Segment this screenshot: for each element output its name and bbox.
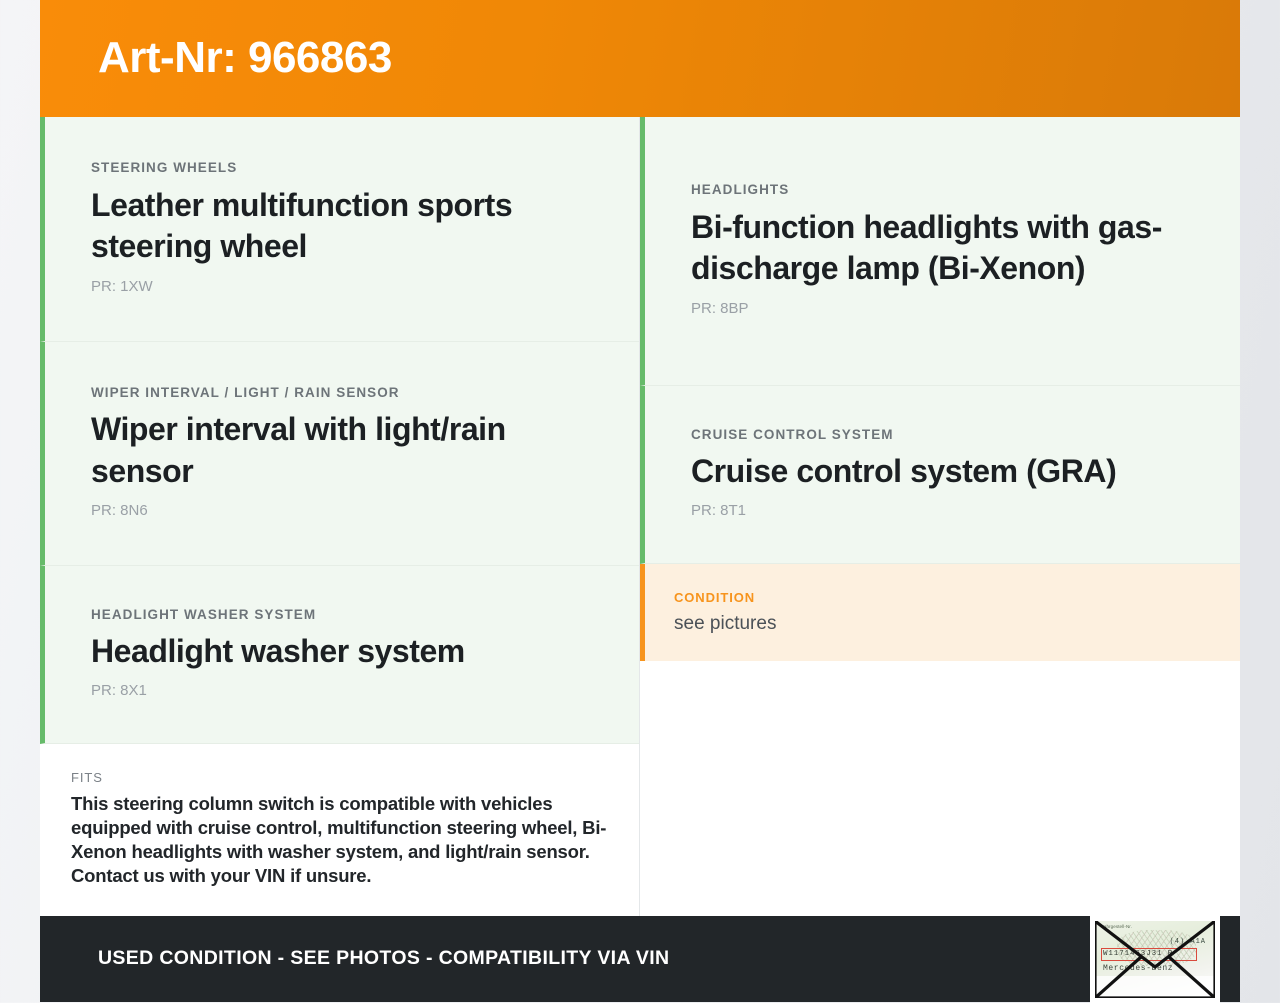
card-category: HEADLIGHTS [691,182,1210,198]
feature-card-wiper-sensor[interactable]: WIPER INTERVAL / LIGHT / RAIN SENSOR Wip… [40,342,639,566]
card-category: HEADLIGHT WASHER SYSTEM [91,607,609,623]
header-bar: Art-Nr: 966863 [40,0,1240,117]
card-pr-code: PR: 8N6 [91,502,609,520]
fits-card: FITS This steering column switch is comp… [40,744,639,912]
right-column-spacer [640,661,1240,916]
feature-card-cruise-control[interactable]: CRUISE CONTROL SYSTEM Cruise control sys… [640,386,1240,564]
card-title: Headlight washer system [91,631,609,673]
card-pr-code: PR: 8BP [691,300,1210,318]
broken-image-envelope-icon [1095,921,1215,998]
card-category: CRUISE CONTROL SYSTEM [691,427,1210,443]
card-title: Cruise control system (GRA) [691,451,1210,493]
right-column: HEADLIGHTS Bi-function headlights with g… [640,117,1240,916]
card-pr-code: PR: 8X1 [91,682,609,700]
card-category: WIPER INTERVAL / LIGHT / RAIN SENSOR [91,385,609,401]
left-column: STEERING WHEELS Leather multifunction sp… [40,117,640,916]
card-pr-code: PR: 8T1 [691,502,1210,520]
product-sheet: Art-Nr: 966863 STEERING WHEELS Leather m… [40,0,1240,1002]
feature-card-steering-wheel[interactable]: STEERING WHEELS Leather multifunction sp… [40,117,639,342]
fits-label: FITS [71,770,609,786]
card-category: STEERING WHEELS [91,160,609,176]
equipment-grid: STEERING WHEELS Leather multifunction sp… [40,117,1240,916]
footer-notice: USED CONDITION - SEE PHOTOS - COMPATIBIL… [98,948,669,969]
card-title: Bi-function headlights with gas-discharg… [691,207,1210,290]
fits-description: This steering column switch is compatibl… [71,792,609,888]
feature-card-headlight-washer[interactable]: HEADLIGHT WASHER SYSTEM Headlight washer… [40,566,639,744]
condition-value: see pictures [674,612,1210,636]
registration-document-thumbnail[interactable]: Fahrgestell-Nr. (4) A1A W1171463J31 R Me… [1090,916,1220,1003]
condition-card[interactable]: CONDITION see pictures [640,564,1240,661]
feature-card-headlights[interactable]: HEADLIGHTS Bi-function headlights with g… [640,117,1240,386]
card-title: Leather multifunction sports steering wh… [91,185,609,268]
footer-bar: USED CONDITION - SEE PHOTOS - COMPATIBIL… [40,916,1240,1002]
card-title: Wiper interval with light/rain sensor [91,409,609,492]
condition-label: CONDITION [674,590,1210,606]
page-title: Art-Nr: 966863 [98,35,392,81]
card-pr-code: PR: 1XW [91,278,609,296]
document-scan-image: Fahrgestell-Nr. (4) A1A W1171463J31 R Me… [1095,921,1215,998]
